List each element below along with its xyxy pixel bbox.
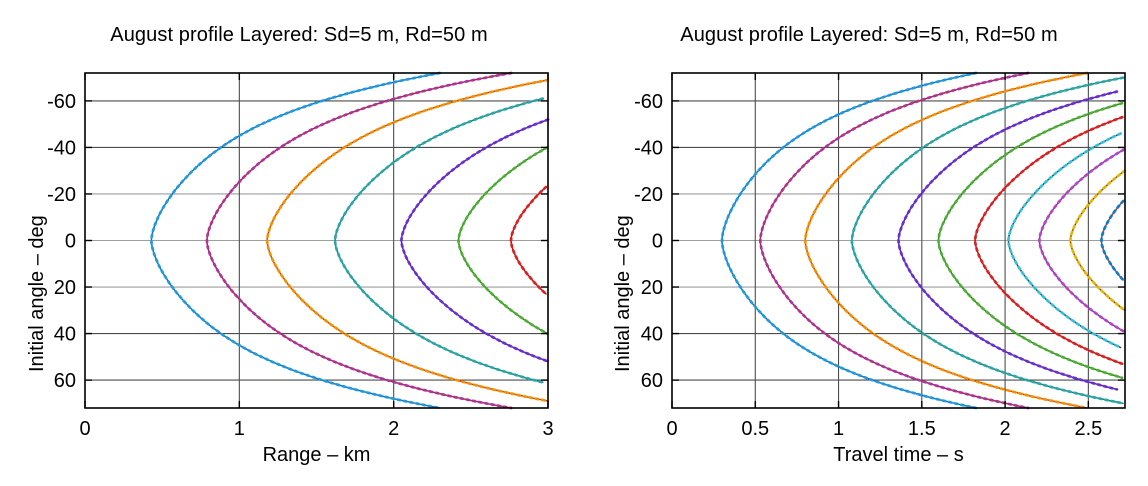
svg-text:3: 3 [542,418,553,440]
svg-text:20: 20 [54,277,76,299]
traveltime-plot-canvas: -60-40-20020406000.511.522.5 [574,0,1148,486]
y-axis-label-traveltime: Initial angle – deg [612,215,635,372]
svg-text:40: 40 [54,324,76,346]
svg-text:0: 0 [65,231,76,253]
svg-text:1.5: 1.5 [908,418,936,440]
svg-text:-20: -20 [47,184,76,206]
svg-text:0: 0 [79,418,90,440]
svg-text:-20: -20 [634,184,663,206]
svg-text:1: 1 [833,418,844,440]
svg-text:-40: -40 [47,137,76,159]
svg-text:2: 2 [388,418,399,440]
ray-trace-figure: August profile Layered: Sd=5 m, Rd=50 m … [0,0,1148,486]
svg-text:0: 0 [666,418,677,440]
panel-range: August profile Layered: Sd=5 m, Rd=50 m … [0,0,574,486]
svg-text:1: 1 [234,418,245,440]
svg-text:40: 40 [641,324,663,346]
svg-text:-60: -60 [634,91,663,113]
svg-text:0: 0 [652,231,663,253]
x-axis-label-traveltime: Travel time – s [672,444,1125,467]
svg-text:60: 60 [641,370,663,392]
y-axis-label-range: Initial angle – deg [26,215,49,372]
panel-traveltime: August profile Layered: Sd=5 m, Rd=50 m … [574,0,1148,486]
range-plot-canvas: -60-40-2002040600123 [0,0,574,486]
svg-text:-40: -40 [634,137,663,159]
svg-text:2: 2 [1000,418,1011,440]
svg-text:20: 20 [641,277,663,299]
svg-text:-60: -60 [47,91,76,113]
svg-text:0.5: 0.5 [741,418,769,440]
svg-text:2.5: 2.5 [1074,418,1102,440]
svg-text:60: 60 [54,370,76,392]
x-axis-label-range: Range – km [85,444,548,467]
